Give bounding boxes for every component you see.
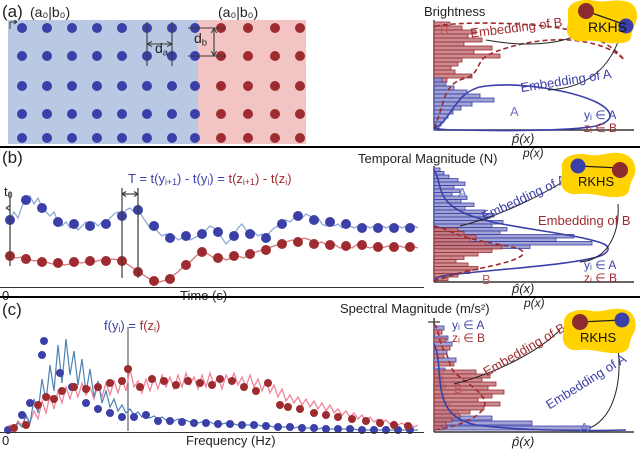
panel-c-xlabel: Frequency (Hz) — [186, 433, 276, 448]
lattice-left-label: (a₀|b₀) — [30, 4, 70, 20]
panel-c-curve-b-label: B — [454, 381, 463, 396]
panel-c-curve-a-label: A — [580, 420, 589, 435]
panel-a-lattice — [8, 20, 306, 144]
panel-a-curve-a-label: A — [510, 104, 519, 119]
panel-c-label: (c) — [2, 300, 22, 320]
panel-b-right-xlabel: p̂(x) — [512, 281, 534, 296]
panel-b-rkhs: RKHS — [556, 150, 640, 198]
panel-b-curve-b-label: B — [482, 272, 491, 287]
panel-c-rkhs: RKHS — [558, 306, 640, 354]
panel-b-label: (b) — [2, 148, 23, 168]
panel-c-legend-a: yᵢ ∈ A — [452, 318, 484, 332]
panel-b-curve-a-label: A — [458, 185, 467, 200]
panel-c-right-density-label: p(x) — [524, 296, 545, 310]
panel-b-legend-a: yᵢ ∈ A — [584, 258, 616, 272]
panel-a-legend-b: zᵢ ∈ B — [584, 121, 617, 135]
panel-a-curve-b-label: B — [440, 23, 449, 38]
panel-b-right-axis-title: Temporal Magnitude (N) — [358, 151, 497, 166]
panel-c-legend-b: zᵢ ∈ B — [452, 331, 485, 345]
panel-b-right-density-label: p(x) — [523, 146, 544, 160]
panel-a-right-xlabel: p̂(x) — [512, 131, 534, 146]
panel-a-rkhs: RKHS — [560, 0, 640, 46]
svg-text:RKHS: RKHS — [578, 174, 614, 189]
figure-root: (a) (a₀|b₀) (a₀|b₀) — [0, 0, 640, 454]
spacing-vertical-label: db — [194, 30, 207, 48]
panel-c-right-xlabel: p̂(x) — [512, 434, 534, 449]
panel-a-right-axis-title: Brightness — [424, 4, 485, 19]
lattice-right-label: (a₀|b₀) — [218, 4, 258, 20]
panel-c-spectra-chart — [0, 325, 424, 435]
panel-c-xorigin: 0 — [2, 433, 9, 448]
panel-c-right-axis-title: Spectral Magnitude (m/s²) — [340, 301, 490, 316]
spacing-horizontal-label: da — [155, 40, 168, 58]
panel-a-label: (a) — [2, 2, 23, 22]
svg-text:RKHS: RKHS — [588, 19, 627, 35]
panel-a-legend-a: yᵢ ∈ A — [584, 108, 616, 122]
panel-b-embedding-b-label: Embedding of B — [538, 213, 631, 228]
panel-a-b-divider — [0, 146, 640, 148]
svg-text:RKHS: RKHS — [580, 330, 616, 345]
panel-b-legend-b: zᵢ ∈ B — [584, 271, 617, 285]
panel-b-timeseries-chart — [0, 182, 424, 292]
